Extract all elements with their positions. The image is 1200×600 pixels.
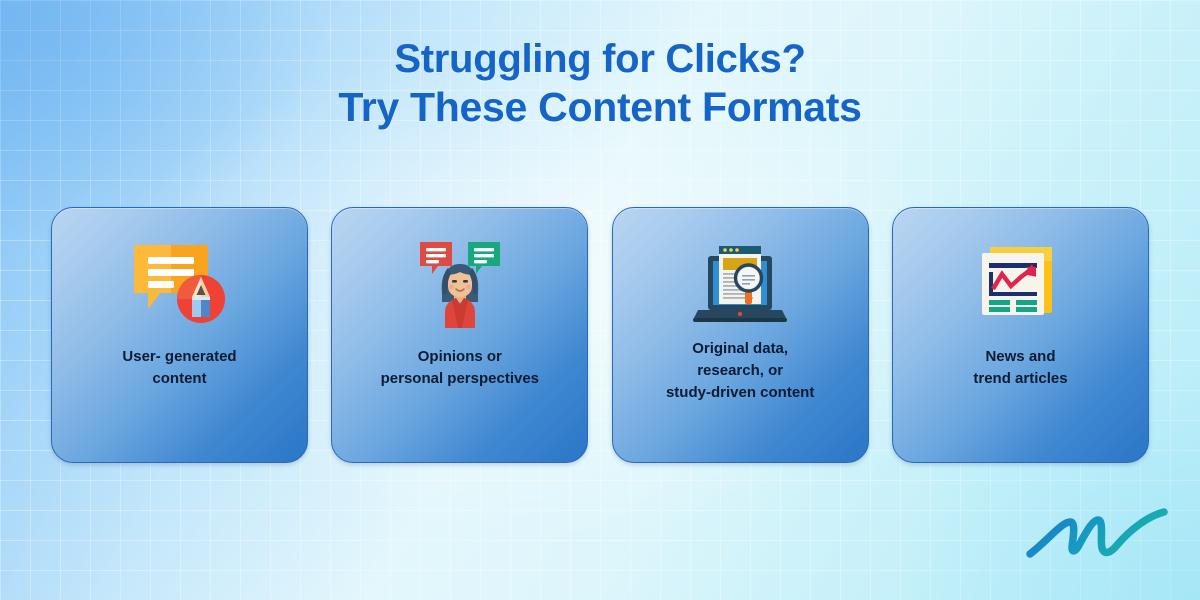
title-line-1: Struggling for Clicks?: [0, 36, 1200, 83]
laptop-research-icon: [690, 238, 790, 330]
card-news-trend-articles[interactable]: News and trend articles: [892, 207, 1149, 463]
card-label: Opinions or personal perspectives: [344, 346, 576, 390]
content-format-card-list: User- generated content: [51, 207, 1149, 463]
infographic-canvas: Struggling for Clicks? Try These Content…: [0, 0, 1200, 600]
card-user-generated-content[interactable]: User- generated content: [51, 207, 308, 463]
card-label: User- generated content: [64, 346, 296, 390]
speech-bubble-pencil-icon: [130, 238, 230, 330]
page-title: Struggling for Clicks? Try These Content…: [0, 36, 1200, 132]
news-trend-article-icon: [976, 238, 1064, 330]
card-label: News and trend articles: [904, 346, 1136, 390]
card-opinions-personal-perspectives[interactable]: Opinions or personal perspectives: [331, 207, 588, 463]
person-opinions-icon: [412, 238, 508, 330]
title-line-2: Try These Content Formats: [0, 83, 1200, 131]
card-original-data-research[interactable]: Original data, research, or study-driven…: [612, 207, 869, 463]
mw-script-logo: [1022, 502, 1172, 574]
card-label: Original data, research, or study-driven…: [624, 338, 856, 403]
